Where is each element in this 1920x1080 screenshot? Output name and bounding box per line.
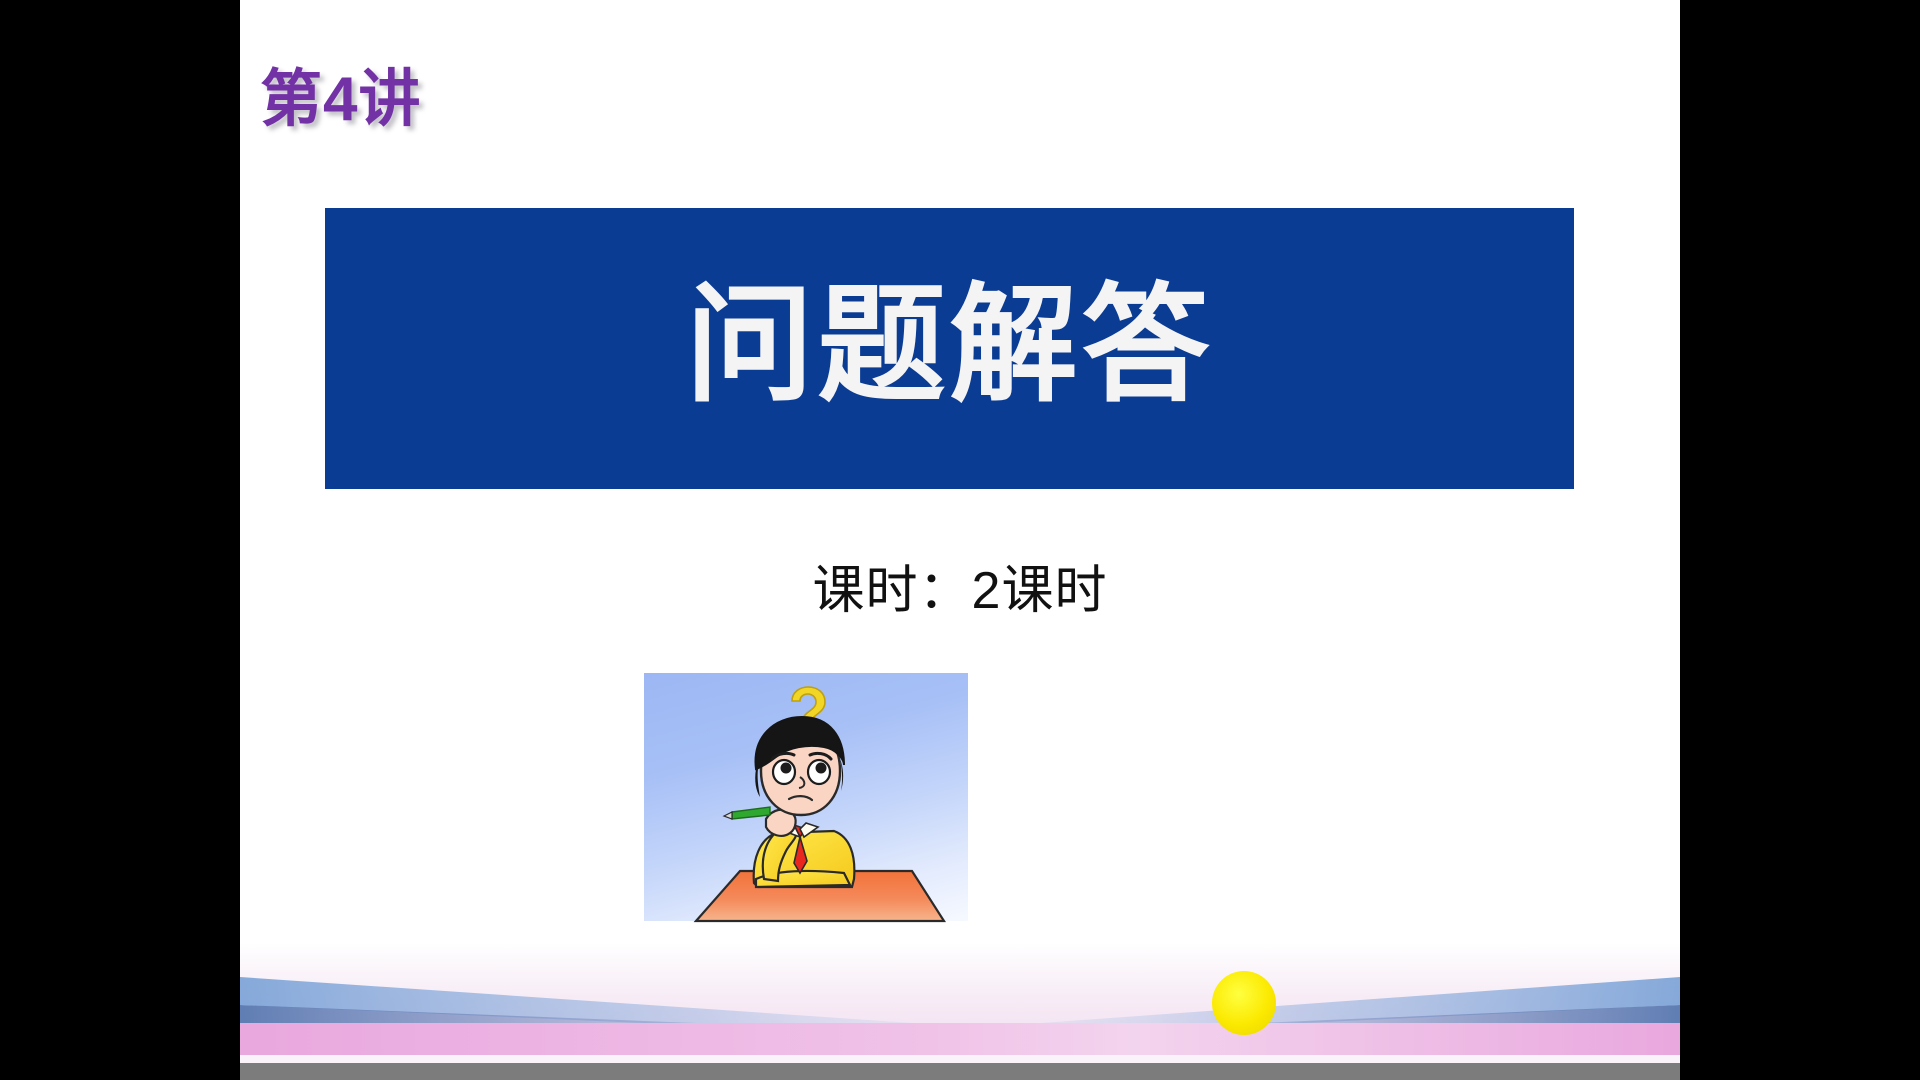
lecture-number-heading: 第4讲 bbox=[260, 48, 421, 138]
pencil-icon bbox=[724, 807, 770, 819]
laser-pointer-dot bbox=[1212, 971, 1276, 1035]
video-player-viewport: 第4讲 问题解答 课时：2课时 bbox=[0, 0, 1920, 1080]
bottom-wave-decoration bbox=[240, 943, 1680, 1063]
boy-body bbox=[754, 823, 855, 887]
title-banner: 问题解答 bbox=[325, 208, 1574, 489]
letterbox-right bbox=[1680, 0, 1920, 1080]
boy-head bbox=[755, 717, 844, 815]
slide-title: 问题解答 bbox=[685, 282, 1213, 410]
letterbox-left bbox=[0, 0, 240, 1080]
illustration-canvas bbox=[644, 673, 968, 921]
class-hours-subtitle: 课时：2课时 bbox=[240, 548, 1680, 623]
player-control-bar[interactable] bbox=[240, 1063, 1680, 1080]
presentation-slide: 第4讲 问题解答 课时：2课时 bbox=[240, 0, 1680, 1063]
thinking-boy-illustration bbox=[644, 673, 968, 921]
